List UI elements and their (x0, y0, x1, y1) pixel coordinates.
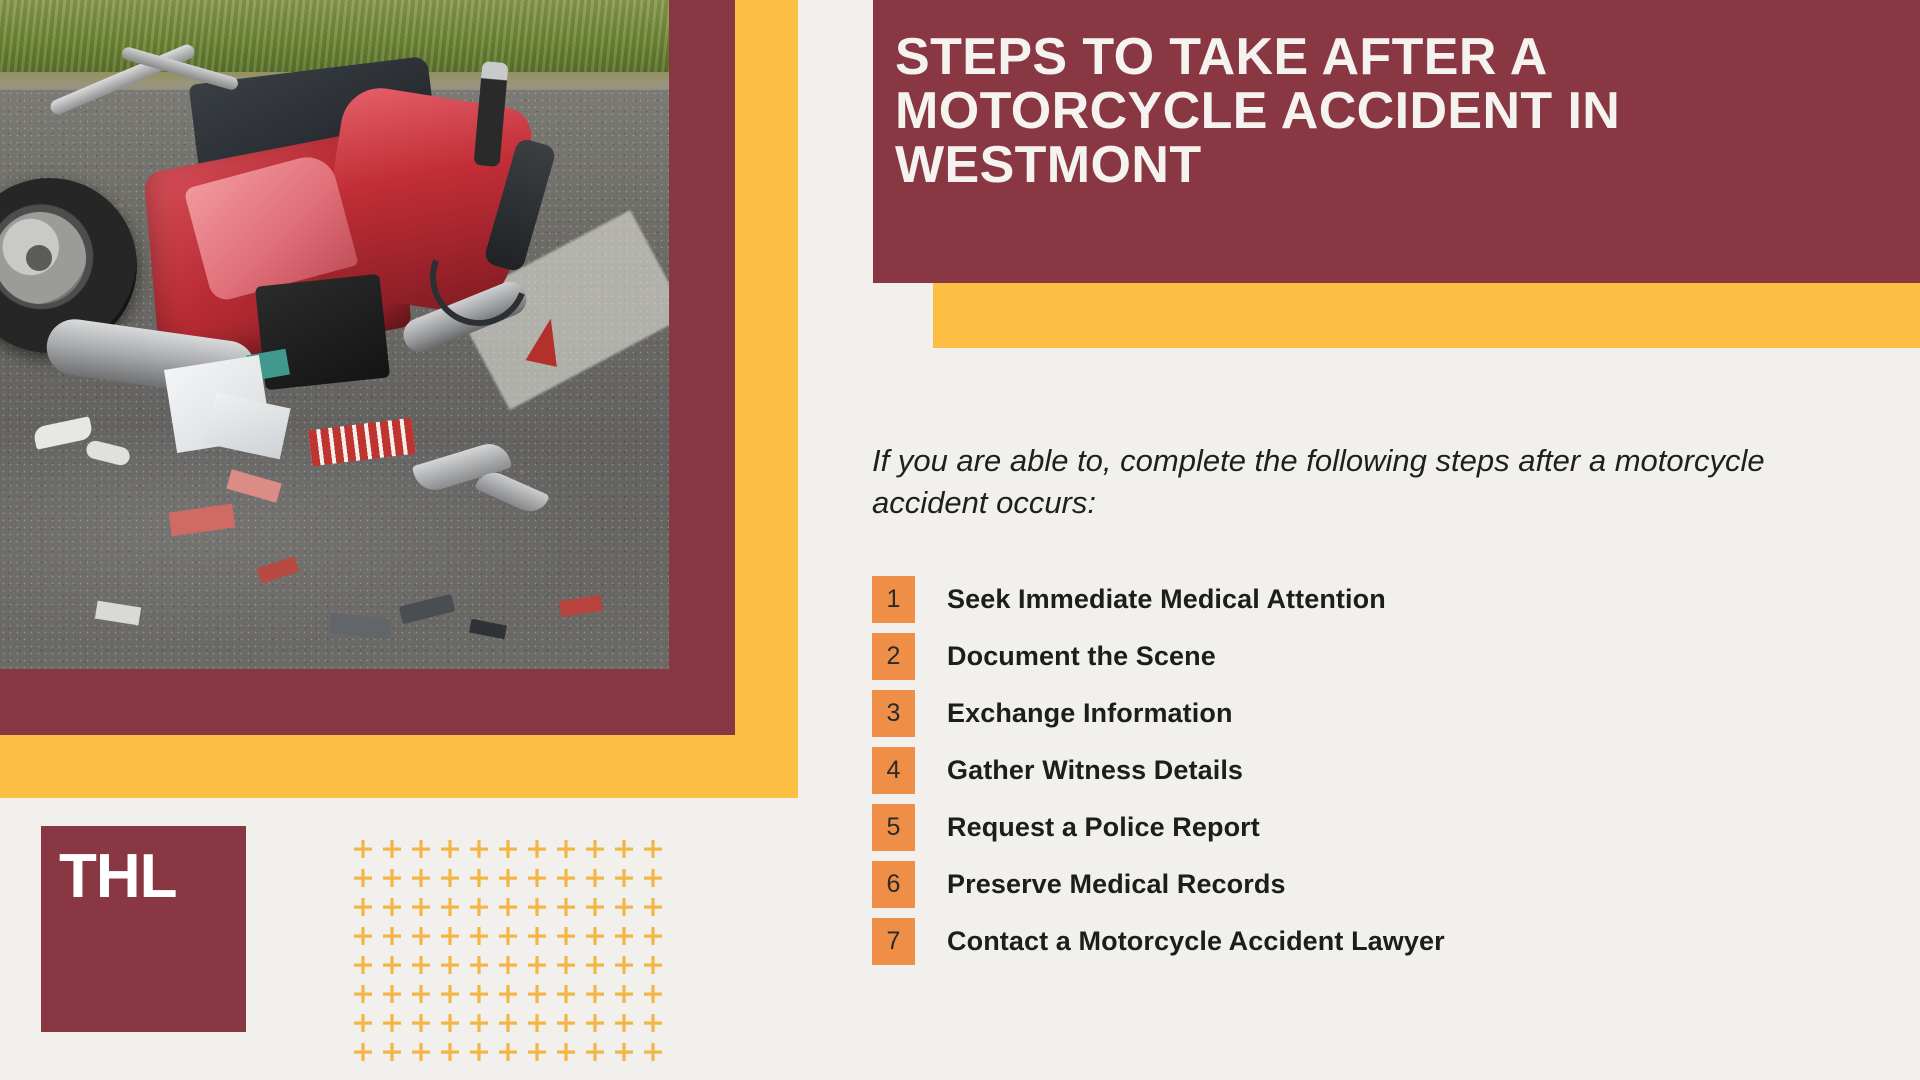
step-number-badge: 5 (872, 804, 915, 851)
plus-pattern-decoration (354, 840, 672, 1070)
step-number-badge: 7 (872, 918, 915, 965)
step-label: Document the Scene (947, 641, 1216, 672)
step-item-5: 5 Request a Police Report (872, 804, 1822, 851)
step-number-badge: 6 (872, 861, 915, 908)
thl-logo[interactable]: THL (41, 826, 246, 1032)
steps-list: 1 Seek Immediate Medical Attention 2 Doc… (872, 576, 1822, 975)
intro-text: If you are able to, complete the followi… (872, 440, 1772, 524)
step-number-badge: 4 (872, 747, 915, 794)
step-number-badge: 3 (872, 690, 915, 737)
step-label: Gather Witness Details (947, 755, 1243, 786)
motorcycle-accident-photo (0, 0, 669, 669)
step-label: Seek Immediate Medical Attention (947, 584, 1386, 615)
step-label: Request a Police Report (947, 812, 1260, 843)
step-item-1: 1 Seek Immediate Medical Attention (872, 576, 1822, 623)
thl-logo-text: THL (59, 846, 177, 908)
page-title: Steps to Take After a Motorcycle Acciden… (895, 30, 1895, 192)
step-number-badge: 2 (872, 633, 915, 680)
step-item-6: 6 Preserve Medical Records (872, 861, 1822, 908)
title-block: Steps to Take After a Motorcycle Acciden… (873, 0, 1920, 283)
step-item-4: 4 Gather Witness Details (872, 747, 1822, 794)
step-item-7: 7 Contact a Motorcycle Accident Lawyer (872, 918, 1822, 965)
step-item-3: 3 Exchange Information (872, 690, 1822, 737)
step-label: Contact a Motorcycle Accident Lawyer (947, 926, 1445, 957)
photo-wheel-axle-nut (26, 245, 52, 271)
step-number-badge: 1 (872, 576, 915, 623)
title-accent-bar (933, 283, 1920, 348)
infographic-canvas: THL Steps to Take After a Motorcycle Acc… (0, 0, 1920, 1080)
step-item-2: 2 Document the Scene (872, 633, 1822, 680)
step-label: Preserve Medical Records (947, 869, 1286, 900)
plus-pattern-svg (354, 840, 672, 1070)
step-label: Exchange Information (947, 698, 1233, 729)
